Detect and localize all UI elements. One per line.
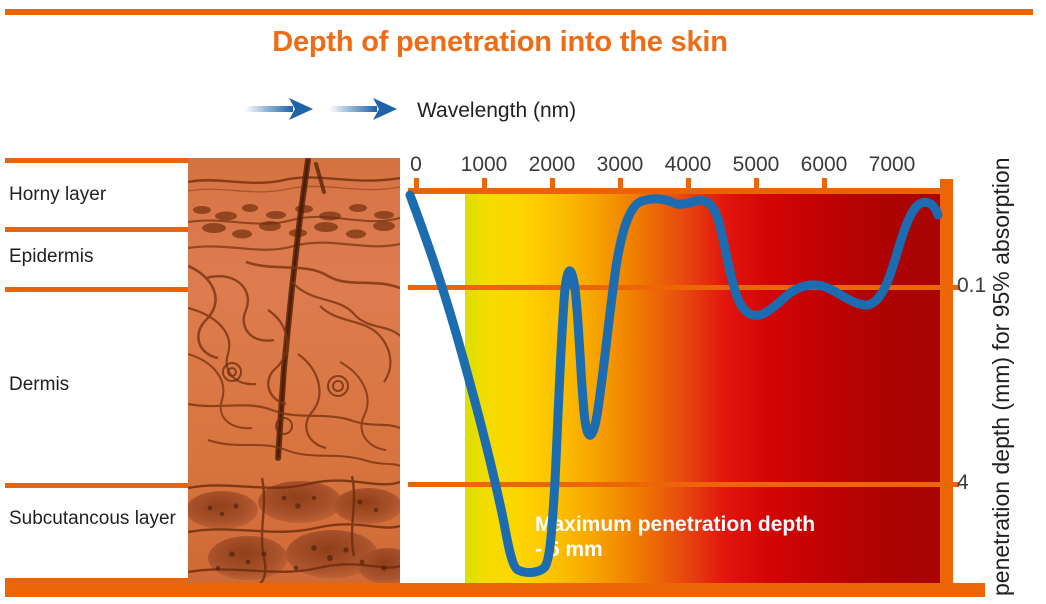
bottom-divider-bar [5,583,985,597]
wavelength-legend: Wavelength (nm) [245,94,576,128]
right-arrow-gradient-icon-2 [329,96,399,127]
y-tick-label-4: 4 [957,471,969,495]
y-tick-label-0.1: 0.1 [957,274,986,298]
layer-label-dermis: Dermis [9,374,69,396]
x-tick-label-1000: 1000 [461,153,508,177]
skin-layer-legend: Horny layer Epidermis Dermis Subcutancou… [5,158,188,583]
layer-divider-1 [5,158,188,163]
x-tick-label-6000: 6000 [801,153,848,177]
max-penetration-annotation: Maximum penetration depth - 5 mm [535,512,815,562]
x-tick-label-3000: 3000 [597,153,644,177]
top-divider-rule [5,9,1033,15]
wavelength-axis-label: Wavelength (nm) [417,99,576,123]
annotation-line-1: Maximum penetration depth [535,512,815,537]
layer-label-horny-layer: Horny layer [9,184,106,206]
reference-line-0.1mm [408,285,940,290]
annotation-line-2: - 5 mm [535,537,815,562]
x-tick-label-5000: 5000 [733,153,780,177]
x-tick-label-7000: 7000 [869,153,916,177]
layer-label-epidermis: Epidermis [9,246,93,268]
x-tick-label-0: 0 [410,153,422,177]
infographic-root: Depth of penetration into the skin [0,0,1046,604]
skin-histology-image [188,158,400,583]
layer-divider-2 [5,227,188,232]
layer-divider-4 [5,483,188,488]
x-axis-tick-labels: 0 1000 2000 3000 4000 5000 6000 7000 [408,153,968,179]
page-title: Depth of penetration into the skin [0,26,1000,59]
y-axis-title: penetration depth (mm) for 95% absorptio… [988,56,1014,596]
x-tick-label-2000: 2000 [529,153,576,177]
plot-top-border [408,188,940,194]
plot-right-axis-bar [940,179,953,583]
layer-label-subcutaneous-layer: Subcutancous layer [9,508,181,530]
reference-line-4mm [408,482,940,487]
x-tick-label-4000: 4000 [665,153,712,177]
layer-divider-3 [5,287,188,292]
penetration-depth-chart: IR-A IR-B IR-C Maximum penetration depth… [408,193,940,583]
right-arrow-gradient-icon [245,96,315,127]
